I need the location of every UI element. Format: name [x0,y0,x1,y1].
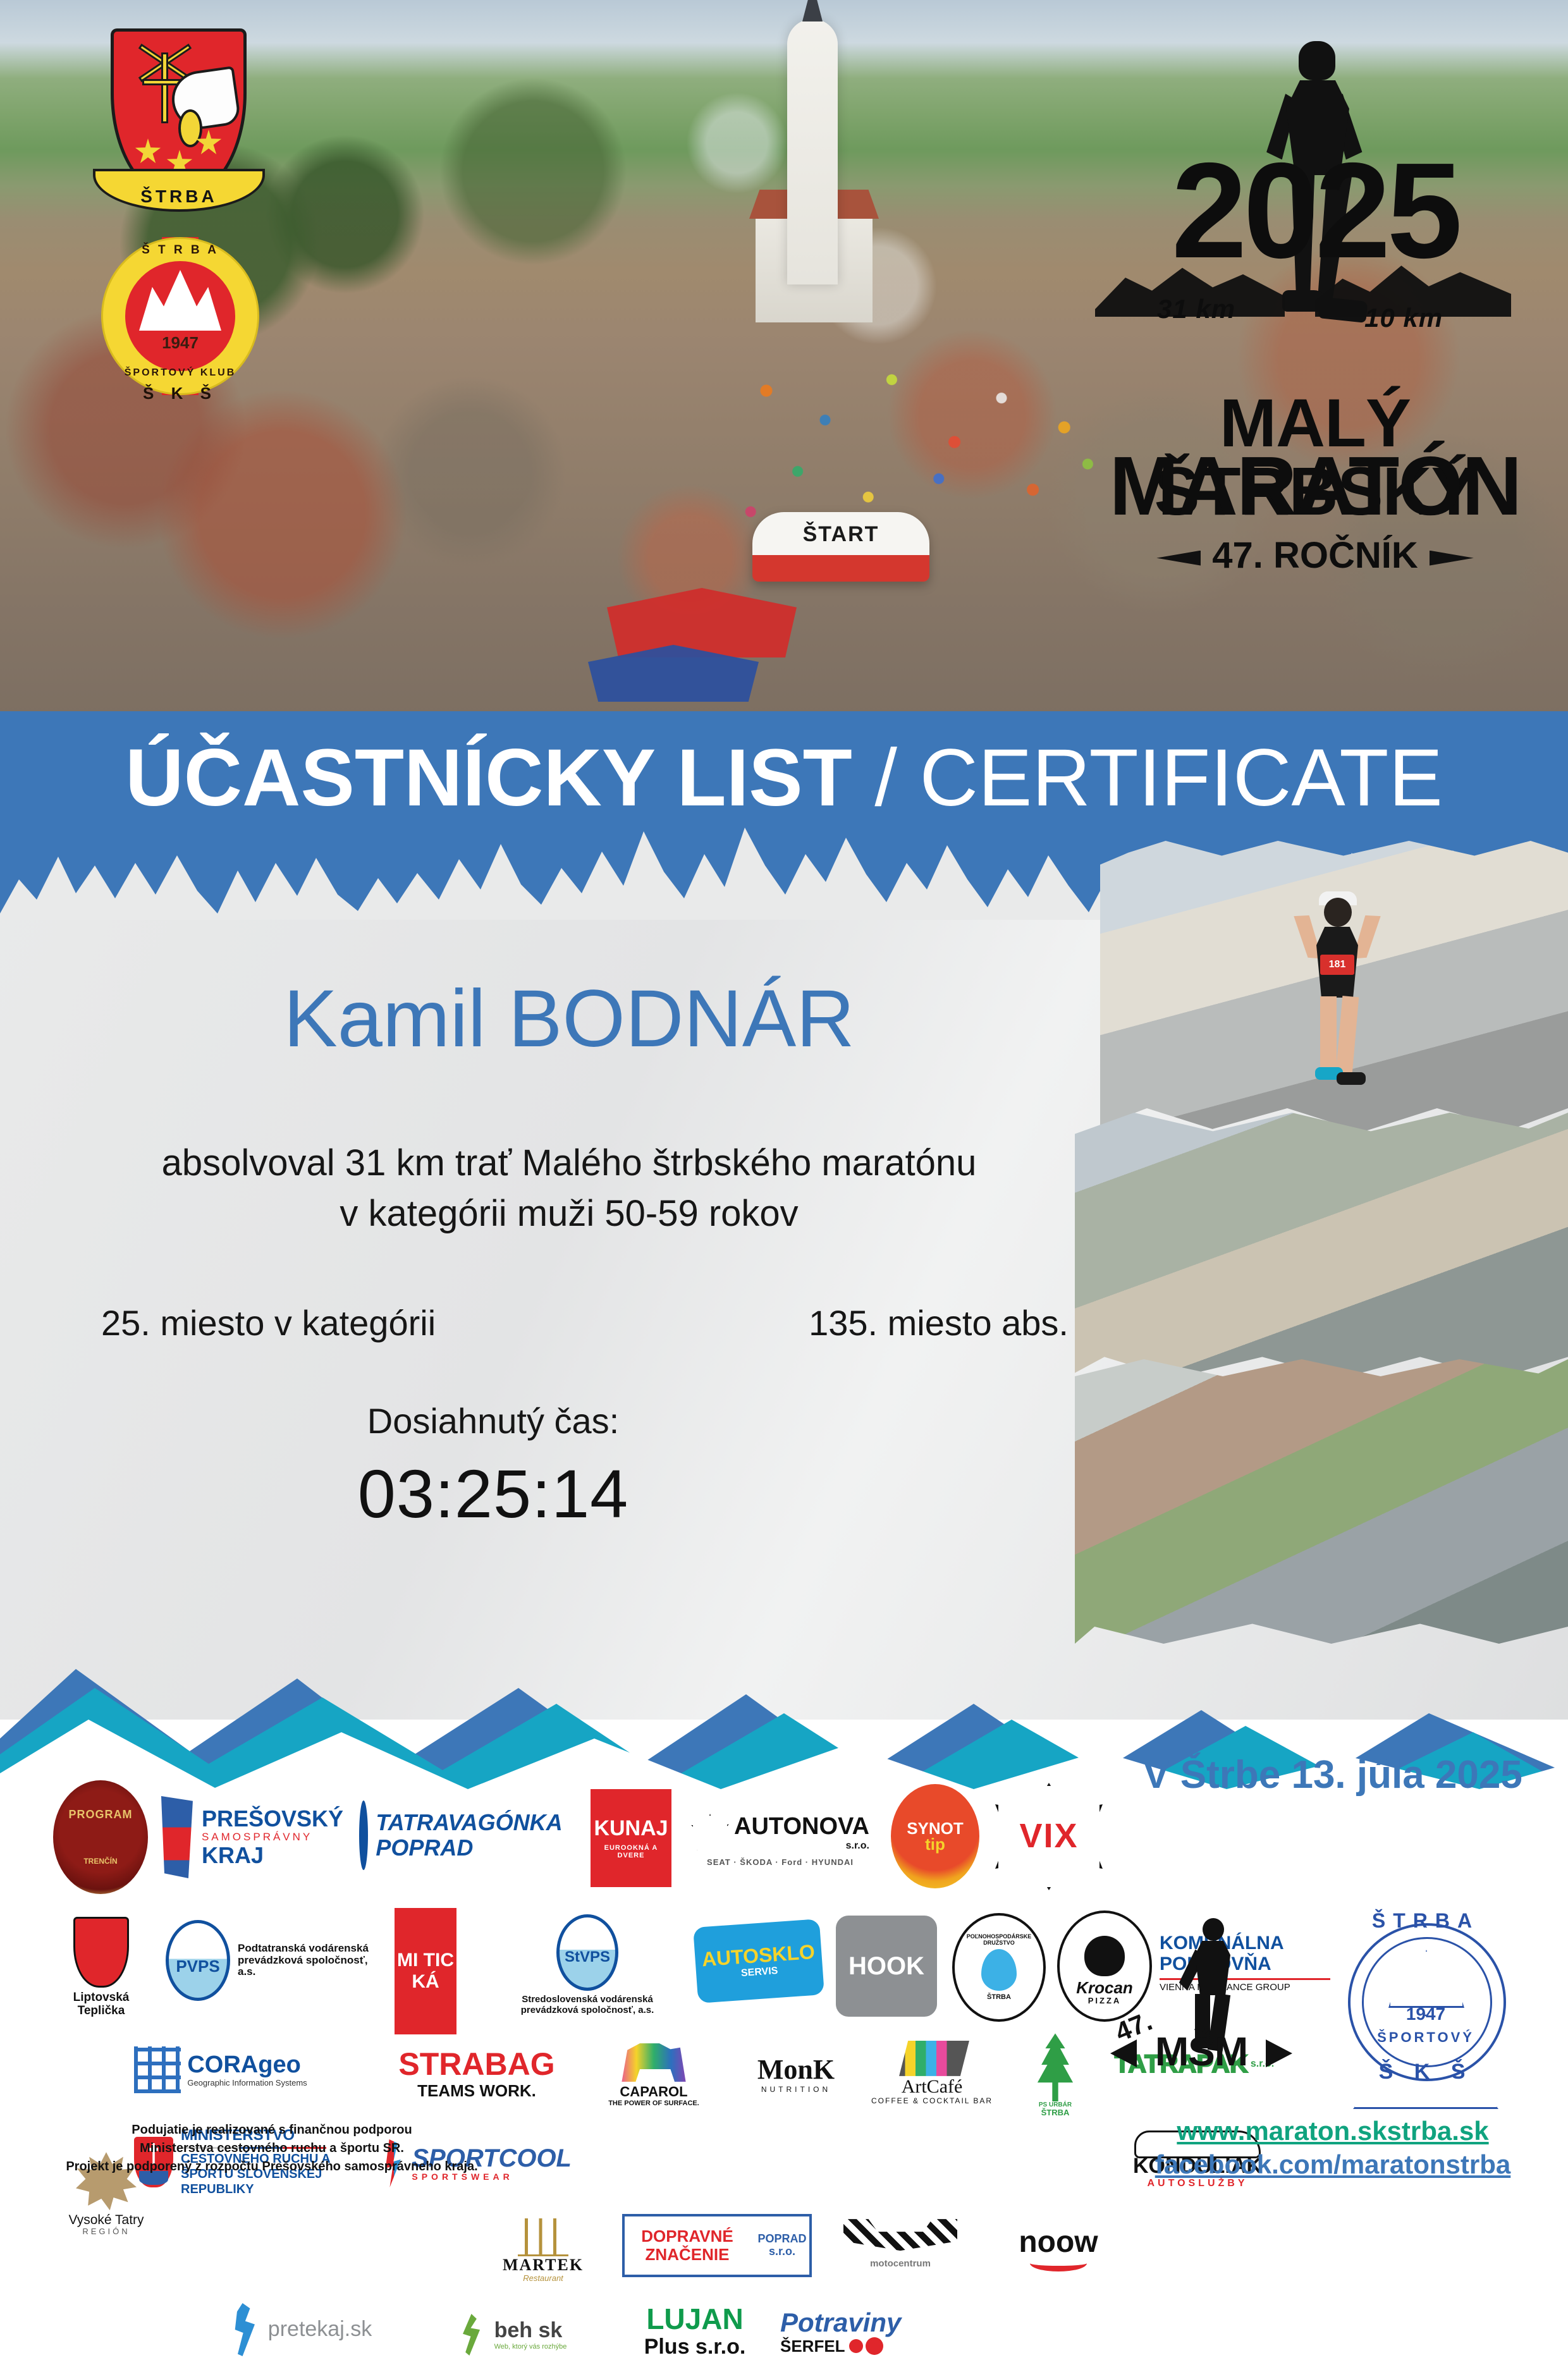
runner-figure: 181 [1290,879,1385,1087]
sponsor-label: noow [1019,2226,1098,2259]
sponsor-label: VIX [1019,1818,1078,1855]
disclaimer-line1: Podujatie je realizované s finančnou pod… [38,2121,506,2139]
sponsor-sub: TRENČÍN [83,1857,117,1866]
marathon-edition: 47. ROČNÍK [1087,534,1543,577]
sponsor-sub: POPRAD s.r.o. [755,2233,809,2258]
marathon-year: 2025 [1087,142,1543,278]
sponsor-sub: COFFEE & COCKTAIL BAR [871,2097,993,2105]
sponsor-label: Vysoké Tatry [68,2213,144,2227]
disclaimer-line2: Ministerstva cestovného ruchu a športu S… [38,2139,506,2158]
sponsor-sub: s.r.o. [734,1840,869,1852]
photo-collage: 181 [1062,841,1568,1663]
sponsor-sub: SAMOSPRÁVNY [202,1831,343,1843]
corageo-grid-icon [134,2046,181,2093]
sponsor-sub: Plus s.r.o. [644,2335,746,2359]
start-arch: ŠTART [752,512,929,582]
sponsor-sub: THE POWER OF SURFACE. [608,2100,699,2107]
sponsor-label: DOPRAVNÉ ZNAČENIE [625,2227,750,2263]
sponsor-label: AUTONOVA [734,1814,869,1840]
sponsor-label: HOOK [848,1952,924,1980]
sponsor-sub: POPRAD [376,1835,562,1861]
sponsor-logo-autonova: AUTONOVA s.r.o. SEAT · ŠKODA · Ford · HY… [685,1787,875,1894]
recipient-name: Kamil BODNÁR [76,977,1062,1061]
sponsor-sub: REGIÓN [82,2227,130,2236]
crowd-of-runners [727,354,1119,537]
sponsor-sub: SERVIS [740,1965,778,1979]
finish-time: 03:25:14 [76,1454,910,1533]
sponsor-logo-km-motocentrum: km motocentrum [831,2206,970,2282]
club-year: 1947 [101,333,259,353]
sponsor-sub2: KRAJ [202,1843,343,1868]
sponsor-logo-potraviny-serfel: Potraviny ŠERFEL [780,2294,951,2369]
sponsor-sub: ŠTRBA [987,1993,1011,2001]
checkered-flags-icon [843,2219,957,2251]
sks-club-logo: Š T R B A 1947 ŠPORTOVÝ KLUB Š K Š [101,237,259,395]
race-bib-number: 181 [1320,955,1354,975]
distance-10km: 10 km [1364,303,1443,333]
facebook-link[interactable]: facebook.com/maratonstrba [1137,2148,1529,2182]
sponsor-logo-artcafe: ArtCafé COFFEE & COCKTAIL BAR [869,2032,995,2114]
sks-stamp: ŠTRBA 1947 ŠPORTOVÝ Š K Š [1334,1903,1517,2112]
cuff-icon [178,109,202,147]
sponsor-label: PROGRAM [69,1809,133,1821]
sponsor-logo-pd-strba: POĽNOHOSPODÁRSKE DRUŽSTVO ŠTRBA [952,1913,1046,2022]
marathon-logo-lockup: 2025 31 km 10 km MALÝ ŠTRBSKÝ MARATÓN 47… [1087,35,1543,585]
sponsor-logo-martek: MARTEK Restaurant [483,2206,603,2295]
sponsor-logo-vix: VIX [995,1783,1103,1890]
sponsor-sub: Stredoslovenská vodárenská prevádzková s… [502,1995,673,2015]
disclaimer-line3: Projekt je podporený z rozpočtu Prešovsk… [38,2158,506,2176]
edition-label: 47. ROČNÍK [1212,535,1418,576]
sponsor-sub: Restaurant [523,2274,563,2283]
place-absolute: 135. miesto abs. [809,1302,1081,1343]
photo-finish-line [1075,1359,1568,1644]
sponsor-car-brands: SEAT · ŠKODA · Ford · HYUNDAI [707,1858,854,1867]
club-abbrev: Š K Š [101,384,259,403]
sponsor-logo-caparol: CAPAROL THE POWER OF SURFACE. [591,2029,717,2118]
sponsor-label: Liptovská [73,1991,130,2005]
sponsor-logo-pretekaj: pretekaj.sk [217,2295,382,2364]
stamp-top-text: ŠTRBA [1334,1909,1517,1933]
sponsor-logo-autosklo: AUTOSKLO SERVIS [693,1919,824,2003]
cutlery-icon [518,2218,568,2256]
distance-31km: 31 km [1157,294,1235,324]
sponsor-label: ArtCafé [902,2076,963,2097]
photo-runners-on-road [1075,1113,1568,1378]
sponsor-label: POĽNOHOSPODÁRSKE DRUŽSTVO [961,1934,1037,1947]
sponsor-logo-liptovska-teplicka: Liptovská Teplička [51,1904,152,2031]
description-line1: absolvoval 31 km trať Malého štrbského m… [76,1138,1062,1189]
starburst-icon [691,1814,729,1852]
sponsor-logo-pvps: PVPS Podtatranská vodárenská prevádzková… [161,1919,382,2002]
kraj-emblem-icon [161,1796,193,1878]
stamp-year: 1947 [1334,2004,1517,2024]
sponsor-logo-dopravne-znacenie: DOPRAVNÉ ZNAČENIE POPRAD s.r.o. [622,2214,812,2277]
sponsor-logo-corageo: CORAgeo Geographic Information Systems [123,2032,319,2108]
sponsor-label: LUJAN [646,2303,743,2335]
sponsor-sub: tip [925,1835,945,1854]
sponsor-logo-ps-urbar-strba: PS URBÁR ŠTRBA [1011,2028,1099,2123]
photo-female-finisher: 181 [1100,841,1568,1138]
placement-row: 25. miesto v kategórii 135. miesto abs. [76,1302,1081,1343]
running-figures-icon [228,2303,262,2356]
time-label: Dosiahnutý čas: [76,1400,910,1441]
strba-coat-of-arms: ŠTRBA [111,28,247,199]
sponsor-sub: TEAMS WORK. [417,2082,536,2100]
sponsor-logo-synottip: SYNOT tip [891,1784,979,1888]
sponsor-logo-monk: MonK NUTRITION [736,2039,856,2109]
sponsor-label: pretekaj.sk [268,2318,372,2341]
sponsor-logo-noow: noow [995,2214,1122,2283]
contact-links: www.maraton.skstrba.sk facebook.com/mara… [1137,2115,1529,2181]
triangle-left-icon [1156,551,1201,566]
sponsor-label: beh sk [494,2319,567,2342]
sponsor-logo-kunaj: KUNAJ EUROOKNÁ A DVERE [591,1789,671,1887]
page-title-rest: / CERTIFICATE [852,733,1443,823]
sponsor-label: CAPAROL [620,2084,687,2100]
sponsor-logo-program-trencin: PROGRAM TRENČÍN [53,1780,148,1894]
stvps-oval-icon: StVPS [556,1914,618,1991]
sponsor-label: MI TIC KÁ [395,1950,456,1993]
sponsor-sub: ŠERFEL [780,2337,845,2356]
description-line2: v kategórii muži 50-59 rokov [76,1189,1062,1239]
triangle-right-icon [1430,551,1474,566]
achievement-description: absolvoval 31 km trať Malého štrbského m… [76,1138,1062,1239]
sponsor-sub: EUROOKNÁ A DVERE [591,1844,671,1859]
sponsor-sub: Podtatranská vodárenská prevádzková spol… [238,1943,377,1978]
sponsor-logo-behsk: beh sk Web, ktorý vás rozhýbe [426,2300,597,2369]
sponsor-label: StVPS [565,1949,610,1965]
sponsor-logo-hook: HOOK [836,1916,937,2017]
msm-emblem: 47. MŠM [1106,1916,1296,2112]
stamp-mid-text: ŠPORTOVÝ [1334,2029,1517,2046]
marathon-title-line2: MARATÓN [1087,444,1543,528]
beh-runner-icon [456,2314,489,2356]
tatravagonka-oval-icon [359,1800,368,1870]
noow-smile-icon [1030,2255,1087,2271]
sponsor-label: STRABAG [398,2047,554,2082]
sponsor-logo-strabag: STRABAG TEAMS WORK. [395,2036,559,2112]
place-in-category: 25. miesto v kategórii [76,1302,436,1343]
funding-disclaimer: Podujatie je realizované s finančnou pod… [38,2121,506,2176]
sponsor-logo-miticka: MI TIC KÁ [395,1908,456,2034]
club-bottom-text: ŠPORTOVÝ KLUB [101,367,259,379]
sponsor-logo-tatravagonka: TATRAVAGÓNKA POPRAD [363,1794,559,1876]
sponsor-label: MARTEK [503,2256,584,2275]
pine-tree-icon [1031,2033,1080,2101]
sponsor-label: PREŠOVSKÝ [202,1806,343,1831]
caparol-elephant-icon [619,2040,689,2082]
sponsor-logo-lujan: LUJAN Plus s.r.o. [628,2290,761,2372]
sponsor-label: TATRAVAGÓNKA [376,1810,562,1835]
sponsor-label: CORAgeo [187,2052,307,2079]
sponsor-sub: ŠTRBA [1041,2108,1070,2117]
arms-label: ŠTRBA [140,186,217,207]
sponsor-sub: Geographic Information Systems [187,2079,307,2088]
stamp-abbrev: Š K Š [1334,2060,1517,2084]
sponsor-label: KUNAJ [594,1817,668,1840]
sponsor-sub: motocentrum [870,2259,931,2270]
sponsor-label: PVPS [176,1957,219,1976]
website-link[interactable]: www.maraton.skstrba.sk [1137,2115,1529,2148]
sponsor-sub: NUTRITION [761,2086,831,2094]
artcafe-cup-icon [895,2041,969,2076]
pvps-oval-icon: PVPS [166,1920,230,2001]
church-tower [787,19,838,284]
water-drop-icon [981,1949,1017,1991]
club-top-text: Š T R B A [101,243,259,257]
start-arch-label: ŠTART [803,522,879,547]
sponsor-logo-presovsky-kraj: PREŠOVSKÝ SAMOSPRÁVNY KRAJ [161,1793,344,1881]
sponsor-label: Potraviny [780,2308,901,2337]
page-title-bold: ÚČASTNÍCKY LIST [125,733,852,823]
certificate-date: V Štrbe 13. júla 2025 [1137,1752,1529,1797]
sponsor-logo-stvps: StVPS Stredoslovenská vodárenská prevádz… [483,1914,692,2015]
sponsor-sub: Web, ktorý vás rozhýbe [494,2343,567,2351]
sponsor-label: MonK [757,2055,835,2085]
sponsor-sub: Teplička [78,2005,125,2018]
teplicka-shield-icon [73,1917,129,1988]
page-title: ÚČASTNÍCKY LIST / CERTIFICATE [0,738,1568,819]
